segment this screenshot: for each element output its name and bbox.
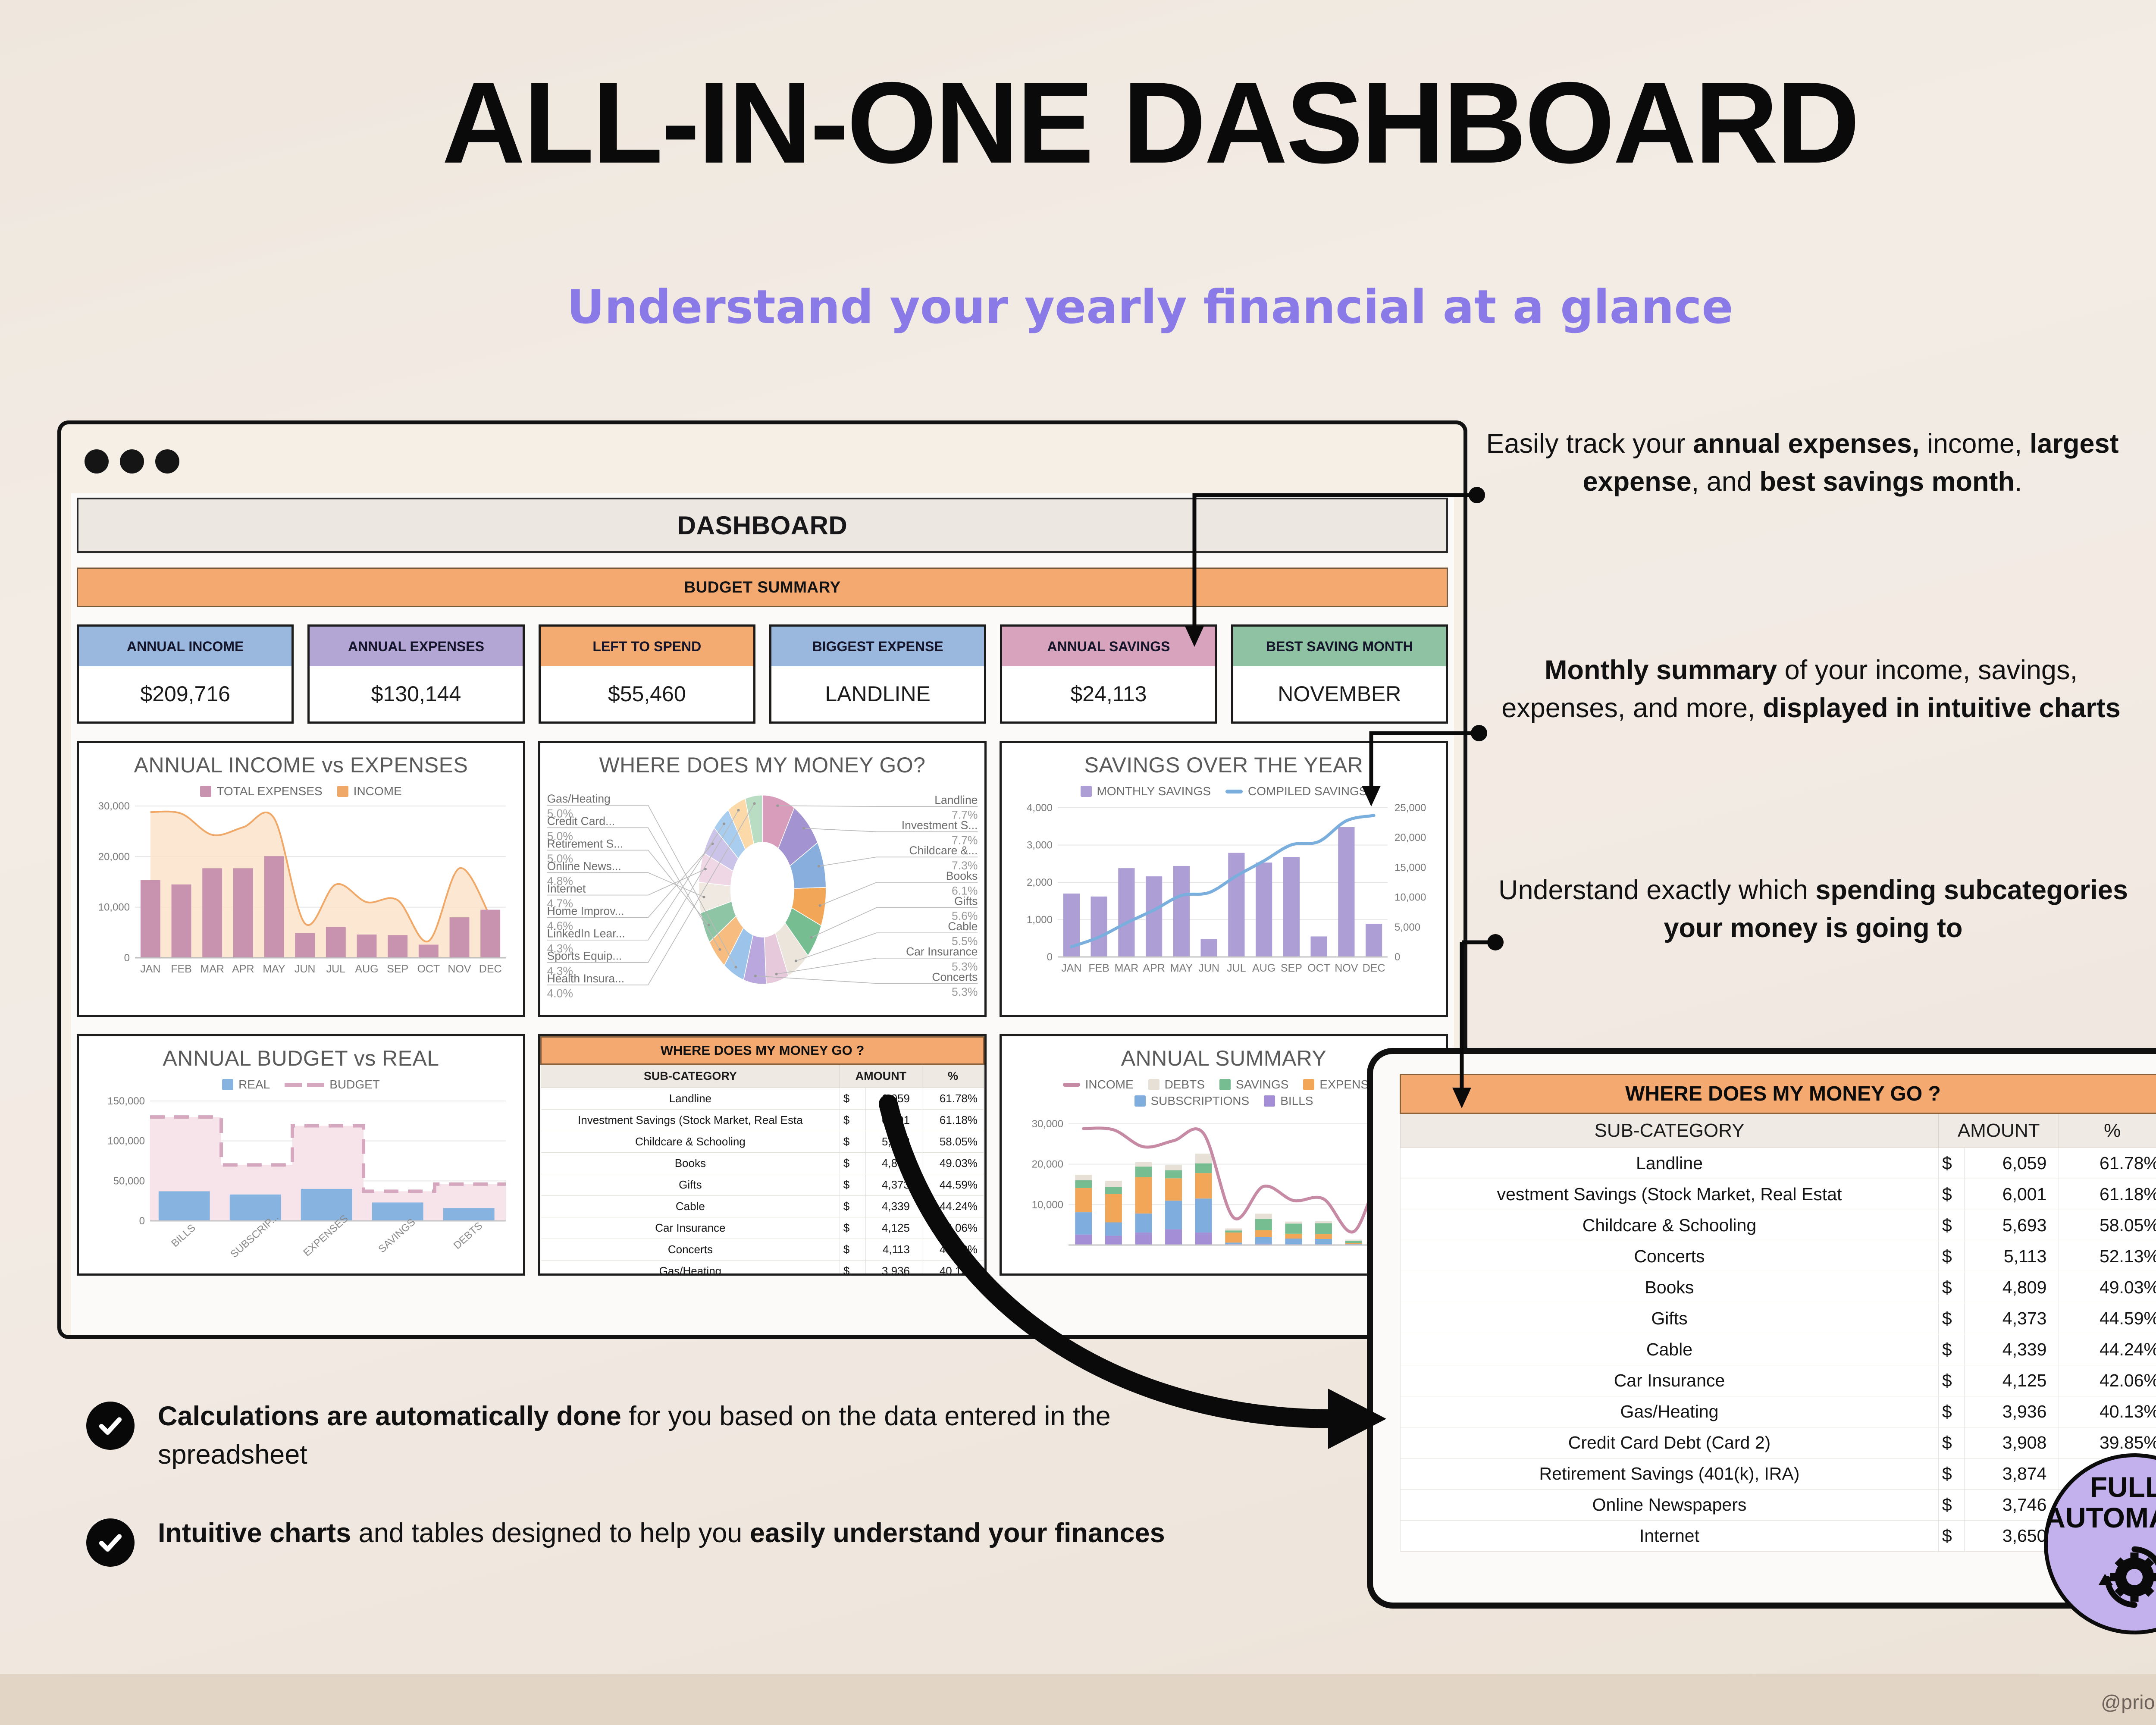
table-body: Landline$6,05961.78%vestment Savings (St…: [1401, 1148, 2156, 1552]
cell-currency: $: [840, 1217, 865, 1239]
tablet-table: WHERE DOES MY MONEY GO ? SUB-CATEGORY AM…: [1400, 1074, 2156, 1552]
legend-item: INCOME: [1063, 1078, 1134, 1091]
svg-text:Cable: Cable: [948, 920, 978, 933]
svg-text:JUL: JUL: [1227, 962, 1246, 974]
table-title: WHERE DOES MY MONEY GO ?: [1401, 1075, 2156, 1113]
badge-line-1: FULLY: [2090, 1472, 2156, 1502]
svg-text:JUN: JUN: [295, 963, 316, 975]
svg-text:Car Insurance: Car Insurance: [906, 945, 978, 958]
cell-percent: 52.13%: [2059, 1241, 2156, 1272]
svg-text:AUG: AUG: [1252, 962, 1275, 974]
cell-subcategory: Concerts: [1401, 1241, 1939, 1272]
cell-currency: $: [1938, 1241, 1964, 1272]
table-row: Concerts$5,11352.13%: [1401, 1241, 2156, 1272]
svg-text:Sports Equip...: Sports Equip...: [547, 950, 622, 963]
cell-percent: 49.03%: [2059, 1272, 2156, 1303]
page-subtitle: Understand your yearly financial at a gl…: [0, 280, 2156, 334]
legend-label: MONTHLY SAVINGS: [1097, 784, 1211, 798]
legend-item: SAVINGS: [1219, 1078, 1288, 1091]
cell-currency: $: [840, 1153, 865, 1174]
cell-currency: $: [1938, 1521, 1964, 1552]
gear-refresh-icon: [2093, 1536, 2156, 1618]
kpi-row: ANNUAL INCOME$209,716ANNUAL EXPENSES$130…: [77, 624, 1448, 724]
kpi-label: LEFT TO SPEND: [541, 627, 753, 666]
svg-text:BILLS: BILLS: [169, 1222, 198, 1250]
cell-amount: 6,001: [865, 1110, 922, 1131]
cell-subcategory: Gas/Heating: [541, 1261, 840, 1276]
cell-subcategory: Books: [541, 1153, 840, 1174]
watermark: @prioridigitalstudio: [2101, 1690, 2156, 1714]
svg-text:5,000: 5,000: [1395, 922, 1420, 933]
svg-text:FEB: FEB: [171, 963, 192, 975]
svg-text:Online News...: Online News...: [547, 859, 621, 872]
cell-subcategory: Online Newspapers: [1401, 1490, 1939, 1521]
kpi-value: NOVEMBER: [1233, 666, 1446, 721]
svg-text:APR: APR: [232, 963, 254, 975]
svg-text:JUN: JUN: [1198, 962, 1219, 974]
svg-text:150,000: 150,000: [107, 1095, 145, 1107]
svg-text:Health Insura...: Health Insura...: [547, 972, 625, 985]
cell-subcategory: Concerts: [541, 1239, 840, 1261]
cell-amount: 3,874: [1964, 1458, 2059, 1490]
kpi-value: $209,716: [79, 666, 291, 721]
svg-text:0: 0: [139, 1215, 145, 1227]
legend-item: COMPILED SAVINGS: [1225, 784, 1367, 798]
svg-text:5.3%: 5.3%: [952, 985, 978, 998]
table-header-row: SUB-CATEGORY AMOUNT %: [1401, 1113, 2156, 1148]
cell-subcategory: Childcare & Schooling: [1401, 1210, 1939, 1241]
cell-amount: 4,125: [1964, 1365, 2059, 1396]
legend-label: BUDGET: [329, 1078, 380, 1091]
cell-percent: 61.78%: [922, 1088, 984, 1110]
table-row: Childcare & Schooling$5,69358.05%: [541, 1131, 984, 1153]
svg-text:10,000: 10,000: [98, 902, 130, 913]
cell-currency: $: [1938, 1210, 1964, 1241]
cell-amount: 4,125: [865, 1217, 922, 1239]
cell-subcategory: Landline: [1401, 1148, 1939, 1179]
kpi-label: ANNUAL INCOME: [79, 627, 291, 666]
chart-legend: MONTHLY SAVINGS COMPILED SAVINGS: [1002, 784, 1446, 798]
table-row: Car Insurance$4,12542.06%: [541, 1217, 984, 1239]
kpi-card-1: ANNUAL EXPENSES$130,144: [307, 624, 524, 724]
cell-percent: 49.03%: [922, 1153, 984, 1174]
footer-band: [0, 1674, 2156, 1725]
kpi-value: LANDLINE: [771, 666, 984, 721]
bullet-text: Calculations are automatically done for …: [158, 1397, 1250, 1474]
cell-amount: 4,373: [1964, 1303, 2059, 1334]
cell-currency: $: [840, 1174, 865, 1196]
cell-currency: $: [840, 1088, 865, 1110]
chart-title: ANNUAL BUDGET vs REAL: [79, 1046, 523, 1071]
cell-subcategory: Cable: [541, 1196, 840, 1217]
chart-legend: TOTAL EXPENSES INCOME: [79, 784, 523, 798]
svg-text:Credit Card...: Credit Card...: [547, 815, 615, 828]
cell-percent: 44.24%: [922, 1196, 984, 1217]
maximize-icon[interactable]: [155, 449, 179, 474]
cell-currency: $: [1938, 1490, 1964, 1521]
svg-text:15,000: 15,000: [1395, 862, 1426, 873]
svg-text:30,000: 30,000: [98, 800, 130, 812]
table-row: Landline$6,05961.78%: [541, 1088, 984, 1110]
kpi-label: ANNUAL EXPENSES: [310, 627, 522, 666]
svg-text:20,000: 20,000: [1032, 1159, 1063, 1170]
svg-text:0: 0: [124, 952, 130, 964]
table-row: Cable$4,33944.24%: [1401, 1334, 2156, 1365]
legend-item: BUDGET: [285, 1078, 380, 1091]
cell-amount: 6,001: [1964, 1179, 2059, 1210]
annotation-monthly-summary: Monthly summary of your income, savings,…: [1483, 651, 2139, 727]
cell-subcategory: Gifts: [541, 1174, 840, 1196]
cell-amount: 4,113: [865, 1239, 922, 1261]
legend-item: MONTHLY SAVINGS: [1081, 784, 1211, 798]
svg-text:JAN: JAN: [1061, 962, 1081, 974]
legend-label: INCOME: [1085, 1078, 1134, 1091]
cell-percent: 58.05%: [2059, 1210, 2156, 1241]
mini-table: WHERE DOES MY MONEY GO ? SUB-CATEGORY AM…: [540, 1036, 984, 1276]
legend-item: SUBSCRIPTIONS: [1134, 1094, 1250, 1108]
svg-text:10,000: 10,000: [1032, 1199, 1063, 1211]
cell-percent: 44.59%: [922, 1174, 984, 1196]
cell-amount: 6,059: [865, 1088, 922, 1110]
chart-title: SAVINGS OVER THE YEAR: [1002, 753, 1446, 778]
legend-label: BILLS: [1280, 1094, 1313, 1108]
table-row: Concerts$4,11341.93%: [541, 1239, 984, 1261]
cell-amount: 3,936: [1964, 1396, 2059, 1427]
table-row: Gas/Heating$3,93640.13%: [1401, 1396, 2156, 1427]
table-body: Landline$6,05961.78%Investment Savings (…: [541, 1088, 984, 1276]
table-title: WHERE DOES MY MONEY GO ?: [541, 1037, 984, 1064]
kpi-value: $24,113: [1002, 666, 1215, 721]
chart-card-annual-budget-vs-real: ANNUAL BUDGET vs REAL REAL BUDGET 050,00…: [77, 1034, 525, 1276]
svg-text:100,000: 100,000: [107, 1135, 145, 1147]
chart-card-where-does-my-money-go: WHERE DOES MY MONEY GO? Landline7.7%Inve…: [538, 741, 987, 1017]
svg-text:50,000: 50,000: [113, 1175, 145, 1187]
cell-currency: $: [1938, 1148, 1964, 1179]
cell-subcategory: Internet: [1401, 1521, 1939, 1552]
kpi-value: $130,144: [310, 666, 522, 721]
svg-text:NOV: NOV: [1335, 962, 1358, 974]
close-icon[interactable]: [85, 449, 109, 474]
cell-amount: 3,908: [1964, 1427, 2059, 1458]
bullet-text: Intuitive charts and tables designed to …: [158, 1514, 1165, 1552]
svg-text:MAY: MAY: [263, 963, 285, 975]
cell-amount: 6,059: [1964, 1148, 2059, 1179]
svg-text:0: 0: [1047, 951, 1053, 963]
legend-item: TOTAL EXPENSES: [200, 784, 322, 798]
legend-label: COMPILED SAVINGS: [1248, 784, 1367, 798]
legend-label: REAL: [238, 1078, 270, 1091]
list-item: Intuitive charts and tables designed to …: [86, 1514, 1250, 1567]
cell-amount: 3,936: [865, 1261, 922, 1276]
charts-row-1: ANNUAL INCOME vs EXPENSES TOTAL EXPENSES…: [77, 741, 1448, 1017]
svg-text:Childcare &...: Childcare &...: [909, 844, 978, 857]
svg-text:OCT: OCT: [1307, 962, 1330, 974]
cell-currency: $: [1938, 1458, 1964, 1490]
svg-text:Landline: Landline: [934, 793, 978, 806]
cell-currency: $: [840, 1131, 865, 1153]
cell-amount: 5,693: [1964, 1210, 2059, 1241]
cell-currency: $: [1938, 1303, 1964, 1334]
cell-subcategory: Cable: [1401, 1334, 1939, 1365]
table-row: Credit Card Debt (Card 2)$3,90839.85%: [1401, 1427, 2156, 1458]
svg-text:20,000: 20,000: [98, 851, 130, 862]
legend-item: INCOME: [337, 784, 402, 798]
list-item: Calculations are automatically done for …: [86, 1397, 1250, 1474]
cell-amount: 4,809: [1964, 1272, 2059, 1303]
cell-subcategory: Car Insurance: [1401, 1365, 1939, 1396]
cell-currency: $: [840, 1110, 865, 1131]
svg-text:DEBTS: DEBTS: [451, 1220, 485, 1252]
cell-percent: 40.13%: [922, 1261, 984, 1276]
legend-label: TOTAL EXPENSES: [216, 784, 322, 798]
kpi-card-2: LEFT TO SPEND$55,460: [539, 624, 755, 724]
cell-amount: 5,693: [865, 1131, 922, 1153]
cell-percent: 44.24%: [2059, 1334, 2156, 1365]
charts-row-2: ANNUAL BUDGET vs REAL REAL BUDGET 050,00…: [77, 1034, 1448, 1276]
cell-subcategory: Investment Savings (Stock Market, Real E…: [541, 1110, 840, 1131]
svg-text:0: 0: [1395, 951, 1400, 963]
minimize-icon[interactable]: [120, 449, 144, 474]
kpi-card-4: ANNUAL SAVINGS$24,113: [1000, 624, 1217, 724]
table-row: Online Newspapers$3,74638.20%: [1401, 1490, 2156, 1521]
cell-percent: 61.18%: [922, 1110, 984, 1131]
chart-card-annual-income-vs-expenses: ANNUAL INCOME vs EXPENSES TOTAL EXPENSES…: [77, 741, 525, 1017]
table-row: Internet$3,65037.22%: [1401, 1521, 2156, 1552]
page-title: ALL-IN-ONE DASHBOARD: [0, 56, 2156, 189]
cell-currency: $: [1938, 1427, 1964, 1458]
legend-item: BILLS: [1264, 1094, 1313, 1108]
svg-text:NOV: NOV: [448, 963, 471, 975]
cell-percent: 44.59%: [2059, 1303, 2156, 1334]
table-row: Car Insurance$4,12542.06%: [1401, 1365, 2156, 1396]
svg-text:SEP: SEP: [387, 963, 408, 975]
column-header-amount: AMOUNT: [840, 1064, 922, 1088]
column-header-amount: AMOUNT: [1938, 1113, 2059, 1148]
svg-text:Gifts: Gifts: [954, 894, 978, 907]
annotation-track-expenses: Easily track your annual expenses, incom…: [1475, 425, 2130, 501]
table-row: Childcare & Schooling$5,69358.05%: [1401, 1210, 2156, 1241]
kpi-label: BEST SAVING MONTH: [1233, 627, 1446, 666]
svg-text:3,000: 3,000: [1027, 840, 1053, 851]
cell-subcategory: Gas/Heating: [1401, 1396, 1939, 1427]
svg-text:Books: Books: [946, 869, 978, 882]
cell-subcategory: Retirement Savings (401(k), IRA): [1401, 1458, 1939, 1490]
column-header-percent: %: [2059, 1113, 2156, 1148]
chart-plot-area: Landline7.7%Investment S...7.7%Childcare…: [540, 778, 984, 1006]
table-row: Gifts$4,37344.59%: [541, 1174, 984, 1196]
cell-amount: 4,373: [865, 1174, 922, 1196]
svg-text:APR: APR: [1143, 962, 1165, 974]
kpi-label: BIGGEST EXPENSE: [771, 627, 984, 666]
kpi-card-5: BEST SAVING MONTHNOVEMBER: [1231, 624, 1448, 724]
svg-text:2,000: 2,000: [1027, 877, 1053, 888]
cell-subcategory: Car Insurance: [541, 1217, 840, 1239]
chart-title: ANNUAL INCOME vs EXPENSES: [79, 753, 523, 778]
svg-text:LinkedIn Lear...: LinkedIn Lear...: [547, 927, 625, 940]
svg-text:MAY: MAY: [1170, 962, 1193, 974]
column-header-percent: %: [922, 1064, 984, 1088]
table-row: Books$4,80949.03%: [541, 1153, 984, 1174]
cell-amount: 4,809: [865, 1153, 922, 1174]
svg-text:MAR: MAR: [1115, 962, 1139, 974]
legend-label: SUBSCRIPTIONS: [1151, 1094, 1250, 1108]
chart-title: WHERE DOES MY MONEY GO?: [540, 753, 984, 778]
cell-subcategory: Credit Card Debt (Card 2): [1401, 1427, 1939, 1458]
svg-text:4,000: 4,000: [1027, 802, 1053, 814]
svg-text:Investment S...: Investment S...: [902, 819, 978, 832]
check-icon: [86, 1518, 135, 1567]
cell-subcategory: Books: [1401, 1272, 1939, 1303]
cell-subcategory: vestment Savings (Stock Market, Real Est…: [1401, 1179, 1939, 1210]
check-icon: [86, 1402, 135, 1450]
svg-text:FEB: FEB: [1088, 962, 1109, 974]
cell-currency: $: [1938, 1334, 1964, 1365]
kpi-card-3: BIGGEST EXPENSELANDLINE: [769, 624, 986, 724]
column-header-subcategory: SUB-CATEGORY: [541, 1064, 840, 1088]
svg-text:Concerts: Concerts: [932, 970, 978, 983]
dashboard-heading: DASHBOARD: [77, 498, 1448, 553]
chart-card-savings-over-the-year: SAVINGS OVER THE YEAR MONTHLY SAVINGS CO…: [1000, 741, 1448, 1017]
cell-percent: 41.93%: [922, 1239, 984, 1261]
table-header-row: SUB-CATEGORY AMOUNT %: [541, 1064, 984, 1088]
cell-currency: $: [1938, 1272, 1964, 1303]
badge-line-2: AUTOMATED: [2045, 1502, 2156, 1533]
cell-subcategory: Gifts: [1401, 1303, 1939, 1334]
legend-label: INCOME: [354, 784, 402, 798]
table-row: Cable$4,33944.24%: [541, 1196, 984, 1217]
kpi-value: $55,460: [541, 666, 753, 721]
svg-text:Internet: Internet: [547, 882, 586, 895]
cell-amount: 4,339: [1964, 1334, 2059, 1365]
table-row: Retirement Savings (401(k), IRA)$3,87439…: [1401, 1458, 2156, 1490]
svg-text:MAR: MAR: [200, 963, 224, 975]
cell-currency: $: [840, 1239, 865, 1261]
kpi-card-0: ANNUAL INCOME$209,716: [77, 624, 294, 724]
cell-amount: 5,113: [1964, 1241, 2059, 1272]
window-traffic-lights[interactable]: [85, 449, 179, 474]
svg-text:Retirement S...: Retirement S...: [547, 837, 624, 850]
table-row: Gas/Heating$3,93640.13%: [541, 1261, 984, 1276]
table-row: vestment Savings (Stock Market, Real Est…: [1401, 1179, 2156, 1210]
svg-text:DEC: DEC: [479, 963, 502, 975]
svg-text:20,000: 20,000: [1395, 832, 1426, 844]
svg-text:AUG: AUG: [355, 963, 378, 975]
svg-text:SAVINGS: SAVINGS: [376, 1216, 417, 1255]
chart-plot-area: 050,000100,000150,000BILLSSUBSCRIP...EXP…: [79, 1091, 523, 1264]
cell-currency: $: [1938, 1365, 1964, 1396]
chart-legend: REAL BUDGET: [79, 1078, 523, 1091]
legend-item: DEBTS: [1148, 1078, 1205, 1091]
cell-percent: 61.78%: [2059, 1148, 2156, 1179]
svg-text:DEC: DEC: [1363, 962, 1385, 974]
cell-subcategory: Landline: [541, 1088, 840, 1110]
svg-text:OCT: OCT: [417, 963, 440, 975]
cell-currency: $: [1938, 1179, 1964, 1210]
svg-text:10,000: 10,000: [1395, 892, 1426, 903]
table-row: Landline$6,05961.78%: [1401, 1148, 2156, 1179]
spreadsheet-sheet: DASHBOARD BUDGET SUMMARY ANNUAL INCOME$2…: [71, 493, 1454, 1335]
column-header-subcategory: SUB-CATEGORY: [1401, 1113, 1939, 1148]
table-row: Gifts$4,37344.59%: [1401, 1303, 2156, 1334]
tablet-overlay: WHERE DOES MY MONEY GO ? SUB-CATEGORY AM…: [1367, 1048, 2156, 1609]
kpi-label: ANNUAL SAVINGS: [1002, 627, 1215, 666]
budget-summary-heading: BUDGET SUMMARY: [77, 568, 1448, 607]
svg-text:JAN: JAN: [140, 963, 160, 975]
svg-text:Gas/Heating: Gas/Heating: [547, 792, 611, 805]
cell-percent: 42.06%: [2059, 1365, 2156, 1396]
legend-label: DEBTS: [1165, 1078, 1205, 1091]
cell-amount: 4,339: [865, 1196, 922, 1217]
svg-text:1,000: 1,000: [1027, 914, 1053, 926]
legend-item: REAL: [222, 1078, 270, 1091]
cell-percent: 58.05%: [922, 1131, 984, 1153]
table-row: Books$4,80949.03%: [1401, 1272, 2156, 1303]
chart-plot-area: 01,0002,0003,0004,00005,00010,00015,0002…: [1002, 798, 1446, 984]
feature-bullets: Calculations are automatically done for …: [86, 1397, 1250, 1606]
cell-percent: 40.13%: [2059, 1396, 2156, 1427]
svg-text:25,000: 25,000: [1395, 802, 1426, 814]
chart-plot-area: 010,00020,00030,000JANFEBMARAPRMAYJUNJUL…: [79, 798, 523, 984]
browser-window: DASHBOARD BUDGET SUMMARY ANNUAL INCOME$2…: [57, 420, 1467, 1339]
svg-text:Home Improv...: Home Improv...: [547, 905, 624, 918]
cell-currency: $: [840, 1261, 865, 1276]
legend-label: SAVINGS: [1236, 1078, 1288, 1091]
cell-percent: 42.06%: [922, 1217, 984, 1239]
svg-text:SEP: SEP: [1281, 962, 1302, 974]
cell-percent: 61.18%: [2059, 1179, 2156, 1210]
svg-text:4.0%: 4.0%: [547, 987, 573, 1000]
table-row: Investment Savings (Stock Market, Real E…: [541, 1110, 984, 1131]
svg-text:JUL: JUL: [326, 963, 346, 975]
table-card-where-does-my-money-go: WHERE DOES MY MONEY GO ? SUB-CATEGORY AM…: [538, 1034, 987, 1276]
cell-currency: $: [1938, 1396, 1964, 1427]
cell-currency: $: [840, 1196, 865, 1217]
annotation-subcategories: Understand exactly which spending subcat…: [1496, 871, 2130, 947]
cell-subcategory: Childcare & Schooling: [541, 1131, 840, 1153]
svg-text:30,000: 30,000: [1032, 1118, 1063, 1130]
